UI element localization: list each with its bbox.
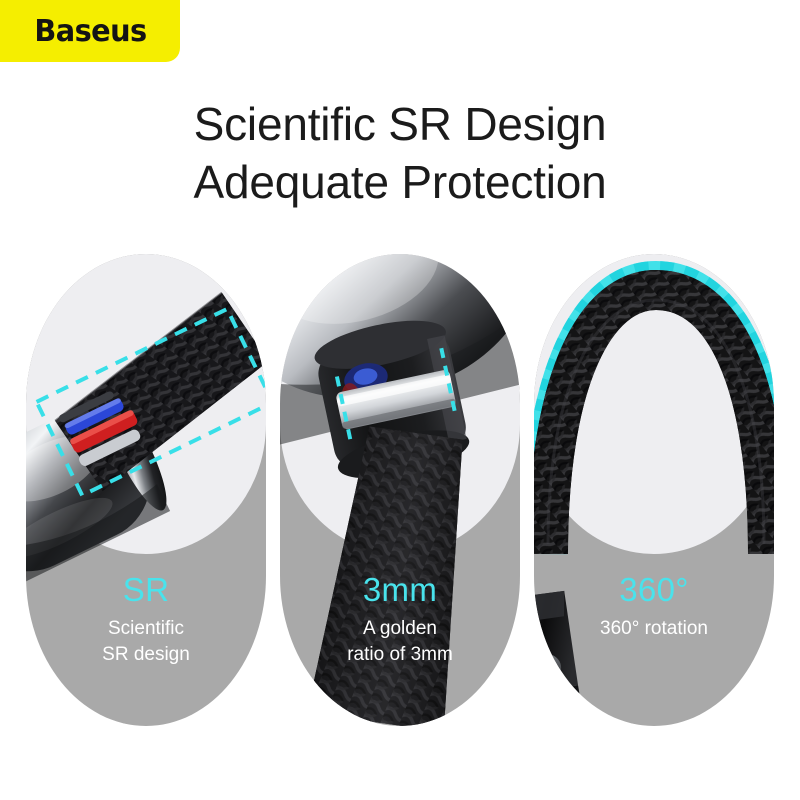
brand-logo-text: Baseus (34, 14, 146, 49)
brand-logo: Baseus (0, 0, 180, 62)
feature-panel-golden-ratio: 3mm A golden ratio of 3mm (280, 254, 520, 726)
headline: Scientific SR Design Adequate Protection (0, 95, 800, 211)
headline-line-1: Scientific SR Design (0, 95, 800, 153)
feature-panel-sr-design: SR Scientific SR design (26, 254, 266, 726)
feature-panels: SR Scientific SR design (0, 254, 800, 726)
headline-line-2: Adequate Protection (0, 153, 800, 211)
braided-cable-bend-loop-photo (534, 254, 774, 726)
feature-panel-rotation: 360° 360° rotation (534, 254, 774, 726)
cable-connector-3mm-collar-photo (280, 254, 520, 726)
cable-connector-strain-relief-photo (26, 254, 266, 726)
